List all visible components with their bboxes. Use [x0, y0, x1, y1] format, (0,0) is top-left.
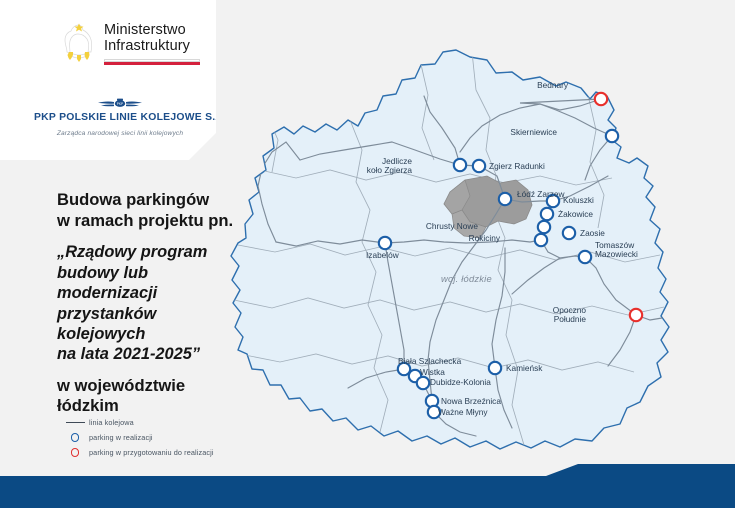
- poster-canvas: BednarySkierniewiceJedliczekoło ZgierzaZ…: [0, 0, 735, 508]
- station-marker[interactable]: [379, 237, 391, 249]
- station-label: Żakowice: [558, 210, 593, 219]
- station-marker[interactable]: [538, 221, 550, 233]
- station-label: TomaszówMazowiecki: [595, 241, 638, 260]
- station-label: Bednary: [537, 81, 568, 90]
- station-marker[interactable]: [454, 159, 466, 171]
- ministry-name: Ministerstwo Infrastruktury: [104, 22, 200, 65]
- map-legend: linia kolejowaparking w realizacjiparkin…: [61, 415, 214, 460]
- legend-item-label: parking w realizacji: [89, 433, 153, 442]
- poster-title-block: Budowa parkingów w ramach projektu pn. „…: [57, 190, 272, 417]
- station-marker[interactable]: [535, 234, 547, 246]
- station-marker[interactable]: [541, 208, 553, 220]
- title-program-quote: „Rządowy program budowy lub modernizacji…: [57, 242, 272, 364]
- station-label: Wistka: [420, 368, 445, 377]
- station-marker[interactable]: [595, 93, 607, 105]
- polish-eagle-emblem-icon: [62, 22, 96, 64]
- ministry-line-2: Infrastruktury: [104, 38, 200, 54]
- title-region-line-2: łódzkim: [57, 396, 272, 417]
- svg-text:PKP: PKP: [117, 102, 123, 106]
- pkp-logo: PKP PKP POLSKIE LINIE KOLEJOWE S.A. Zarz…: [34, 98, 206, 137]
- pkp-winged-wheel-icon: PKP: [97, 98, 143, 110]
- legend-key-line: [61, 422, 89, 424]
- red-circle-icon: [71, 448, 80, 457]
- station-label: Zgierz Radunki: [489, 162, 545, 171]
- station-marker[interactable]: [563, 227, 575, 239]
- legend-item: parking w realizacji: [61, 430, 214, 445]
- title-quote-line-3: modernizacji: [57, 283, 272, 303]
- station-label: Chrusty Nowe: [426, 222, 478, 231]
- legend-key-circle: [61, 448, 89, 457]
- station-marker[interactable]: [606, 130, 618, 142]
- station-label: Koluszki: [563, 196, 594, 205]
- title-quote-line-6: na lata 2021-2025”: [57, 344, 272, 364]
- title-quote-line-5: kolejowych: [57, 324, 272, 344]
- station-label: Nowa Brzeźnica: [441, 397, 501, 406]
- station-label: Ważne Młyny: [438, 408, 488, 417]
- ministry-line-1: Ministerstwo: [104, 22, 200, 38]
- voivodeship-name-label: woj. łódzkie: [441, 273, 492, 284]
- pkp-subtitle: Zarządca narodowej sieci linii kolejowyc…: [34, 130, 206, 137]
- station-label: Biała Szlachecka: [398, 357, 461, 366]
- station-marker[interactable]: [630, 309, 642, 321]
- station-label: Rokiciny: [469, 234, 500, 243]
- logo-card: Ministerstwo Infrastruktury PKP P: [0, 0, 216, 160]
- title-region: w województwie łódzkim: [57, 376, 272, 417]
- title-quote-line-4: przystanków: [57, 304, 272, 324]
- station-marker[interactable]: [499, 193, 511, 205]
- station-label: Dubidze-Kolonia: [430, 378, 491, 387]
- ministry-logo: Ministerstwo Infrastruktury: [62, 22, 200, 65]
- station-label: Zaosie: [580, 229, 605, 238]
- title-main-line-1: Budowa parkingów: [57, 190, 272, 211]
- legend-item: parking w przygotowaniu do realizacji: [61, 445, 214, 460]
- title-quote-line-1: „Rządowy program: [57, 242, 272, 262]
- legend-key-circle: [61, 433, 89, 442]
- station-marker[interactable]: [579, 251, 591, 263]
- station-label: OpocznoPołudnie: [553, 306, 586, 325]
- blue-circle-icon: [71, 433, 80, 442]
- bottom-accent-bar: [0, 464, 735, 508]
- station-marker[interactable]: [489, 362, 501, 374]
- station-label: Kamieńsk: [506, 364, 542, 373]
- legend-item-label: parking w przygotowaniu do realizacji: [89, 448, 214, 457]
- station-marker[interactable]: [473, 160, 485, 172]
- title-quote-line-2: budowy lub: [57, 263, 272, 283]
- station-label: Łódź Zarzew: [517, 190, 565, 199]
- legend-item: linia kolejowa: [61, 415, 214, 430]
- station-label: Izabelów: [366, 251, 399, 260]
- title-region-line-1: w województwie: [57, 376, 272, 397]
- rail-line-icon: [66, 422, 85, 424]
- title-main: Budowa parkingów w ramach projektu pn.: [57, 190, 272, 231]
- legend-item-label: linia kolejowa: [89, 418, 134, 427]
- polish-flag-bar: [104, 59, 200, 65]
- title-main-line-2: w ramach projektu pn.: [57, 211, 272, 232]
- station-label: Jedliczekoło Zgierza: [367, 157, 412, 176]
- station-marker[interactable]: [417, 377, 429, 389]
- pkp-company-name: PKP POLSKIE LINIE KOLEJOWE S.A.: [34, 112, 206, 123]
- station-label: Skierniewice: [510, 128, 557, 137]
